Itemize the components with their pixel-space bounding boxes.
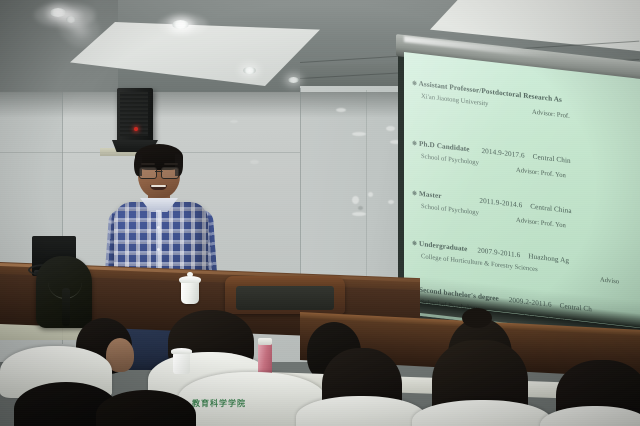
wall-mark-10 bbox=[250, 160, 259, 164]
wall-mark-1 bbox=[336, 108, 346, 112]
teacup-lid-knob bbox=[187, 272, 193, 277]
teacup-lid bbox=[179, 276, 201, 283]
wall-mark-5 bbox=[352, 196, 359, 204]
shirt-button-2 bbox=[157, 248, 160, 251]
presenter-eyebrow-left bbox=[141, 163, 155, 165]
seat-cover-label-2: 教育科学学院 bbox=[192, 398, 246, 409]
wall-mark-2 bbox=[352, 132, 366, 136]
wall-mark-11 bbox=[230, 120, 238, 123]
ceiling-downlight-5 bbox=[288, 77, 299, 83]
thermos-cap bbox=[258, 338, 272, 345]
seat-cover-4 bbox=[296, 396, 426, 426]
wall-mark-7 bbox=[388, 200, 394, 204]
seat-cover-6 bbox=[540, 406, 640, 426]
glasses-icon bbox=[139, 167, 179, 177]
wall-mark-3 bbox=[386, 126, 395, 131]
wall-mark-9 bbox=[352, 212, 366, 216]
power-led-icon bbox=[134, 127, 138, 131]
lecture-hall-photo: ※ Assistant Professor/Postdoctoral Resea… bbox=[0, 0, 640, 426]
chair-cushion bbox=[236, 286, 334, 310]
audience-teacup[interactable] bbox=[173, 352, 190, 374]
ceiling-light-glare-3 bbox=[158, 14, 208, 36]
lidded-teacup[interactable] bbox=[181, 280, 199, 304]
shirt-button-1 bbox=[157, 226, 160, 229]
wall-mark-8 bbox=[358, 206, 363, 210]
ceiling-downlight-4 bbox=[243, 67, 256, 74]
glasses-lens-right bbox=[161, 167, 179, 179]
audience-teacup-lid bbox=[171, 348, 192, 354]
wall-top-shadow bbox=[0, 92, 420, 118]
glasses-lens-left bbox=[139, 167, 157, 179]
audience-hair-bun-2 bbox=[462, 308, 492, 328]
wall-mark-6 bbox=[368, 192, 373, 197]
presenter-eyebrow-right bbox=[164, 163, 178, 165]
backpack-strap bbox=[62, 288, 70, 326]
